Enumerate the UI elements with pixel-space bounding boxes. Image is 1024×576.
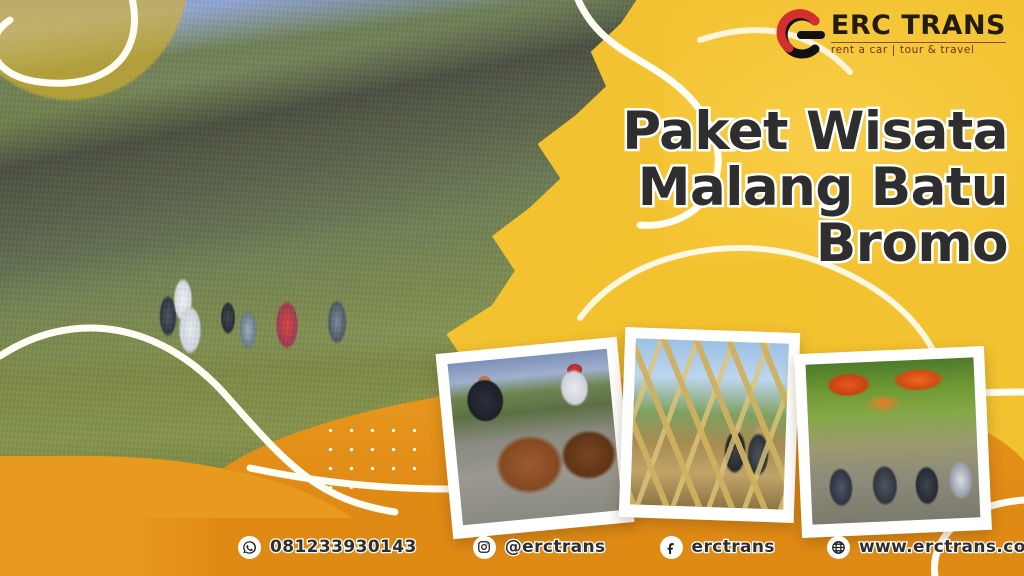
instagram-icon <box>473 536 496 559</box>
page-title-line-1: Paket Wisata <box>538 104 1008 160</box>
photo-card-horseback-image <box>448 349 623 526</box>
contact-website-label: www.erctrans.com <box>859 537 1024 557</box>
facebook-icon <box>660 536 683 559</box>
contact-instagram[interactable]: @erctrans <box>473 536 606 559</box>
brand-logo[interactable]: ERC TRANS rent a car | tour & travel <box>771 8 1006 62</box>
contact-facebook[interactable]: erctrans <box>660 536 775 559</box>
contact-facebook-label: erctrans <box>692 537 775 557</box>
globe-icon <box>827 536 850 559</box>
decor-dot-grid <box>317 418 421 494</box>
promo-banner: ERC TRANS rent a car | tour & travel Pak… <box>0 0 1024 576</box>
contact-bar: 081233930143 @erctrans erctrans <box>238 518 1014 576</box>
contact-whatsapp-label: 081233930143 <box>270 537 417 557</box>
photo-card-group-tour[interactable] <box>794 346 992 538</box>
brand-logo-text: ERC TRANS rent a car | tour & travel <box>831 12 1006 58</box>
brand-tagline: rent a car | tour & travel <box>831 42 1006 56</box>
photo-card-bamboo-bridge-image <box>630 338 789 509</box>
photo-card-bamboo-bridge[interactable] <box>619 327 801 523</box>
contact-website[interactable]: www.erctrans.com <box>827 536 1024 559</box>
whatsapp-icon <box>238 536 261 559</box>
photo-card-horseback[interactable] <box>436 337 635 540</box>
photo-card-group-tour-image <box>806 357 981 524</box>
page-title-line-2: Malang Batu <box>538 160 1008 216</box>
contact-whatsapp[interactable]: 081233930143 <box>238 536 417 559</box>
contact-bar-fade-left <box>0 518 260 576</box>
page-title-line-3: Bromo <box>538 216 1008 272</box>
erc-swoosh-logo-icon <box>771 8 825 62</box>
contact-instagram-label: @erctrans <box>505 537 606 557</box>
brand-name: ERC TRANS <box>831 12 1006 39</box>
page-title: Paket Wisata Malang Batu Bromo <box>538 104 1008 273</box>
